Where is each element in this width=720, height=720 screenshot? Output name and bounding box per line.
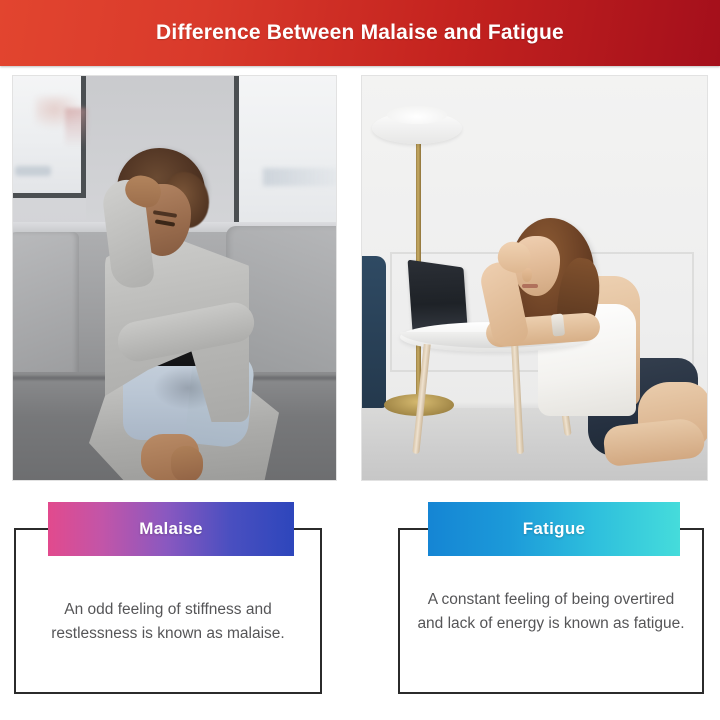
- window-reflection-4: [263, 168, 337, 186]
- page-title: Difference Between Malaise and Fatigue: [156, 21, 564, 45]
- title-banner: Difference Between Malaise and Fatigue: [0, 0, 720, 66]
- sofa-edge: [361, 256, 386, 408]
- label-chip-fatigue: Fatigue: [428, 502, 680, 556]
- label-malaise: Malaise: [139, 519, 203, 539]
- label-chip-malaise: Malaise: [48, 502, 294, 556]
- photo-malaise-icon: [12, 75, 337, 481]
- person-wristwatch: [551, 313, 565, 336]
- person-foot-right: [171, 446, 203, 481]
- couch-cushion-left: [12, 232, 79, 382]
- floor-lamp-shade-top: [387, 106, 447, 124]
- malaise-scene: [13, 76, 336, 480]
- photo-fatigue-icon: [361, 75, 708, 481]
- description-text-fatigue: A constant feeling of being overtired an…: [414, 588, 688, 636]
- person-mouth: [522, 284, 538, 288]
- description-text-malaise: An odd feeling of stiffness and restless…: [30, 598, 306, 646]
- fatigue-scene: [362, 76, 707, 480]
- label-fatigue: Fatigue: [523, 519, 586, 539]
- image-row: [0, 66, 720, 486]
- window-reflection-3: [15, 166, 51, 176]
- window-reflection-2: [65, 108, 87, 148]
